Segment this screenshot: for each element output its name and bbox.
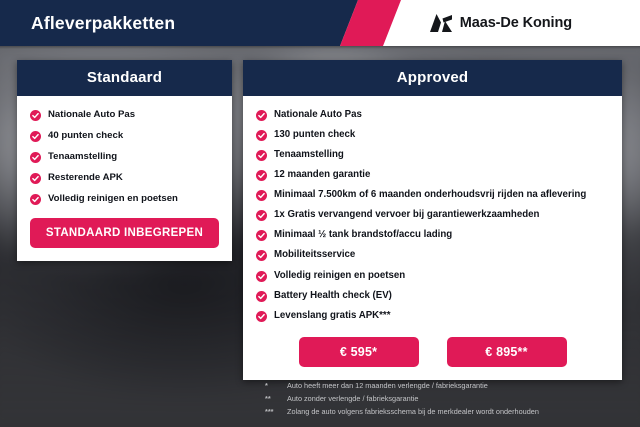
footnote-text: Auto zonder verlengde / fabrieksgarantie [287, 394, 418, 405]
list-item: Tenaamstelling [30, 150, 219, 164]
check-circle-icon [256, 311, 267, 322]
feature-label: 130 punten check [274, 128, 355, 142]
list-item: Volledig reinigen en poetsen [30, 192, 219, 206]
feature-label: Tenaamstelling [48, 150, 117, 164]
footnote-text: Auto heeft meer dan 12 maanden verlengde… [287, 381, 488, 392]
check-circle-icon [30, 152, 41, 163]
list-item: Minimaal 7.500km of 6 maanden onderhouds… [256, 188, 609, 202]
card-body-approved: Nationale Auto Pas 130 punten check Tena… [243, 96, 622, 380]
check-circle-icon [256, 150, 267, 161]
feature-label: Nationale Auto Pas [48, 108, 135, 122]
check-circle-icon [30, 173, 41, 184]
feature-label: Volledig reinigen en poetsen [274, 269, 405, 283]
list-item: Mobiliteitsservice [256, 248, 609, 262]
list-item: Resterende APK [30, 171, 219, 185]
check-circle-icon [256, 291, 267, 302]
feature-list-standaard: Nationale Auto Pas 40 punten check Tenaa… [30, 108, 219, 206]
feature-label: Mobiliteitsservice [274, 248, 355, 262]
list-item: Minimaal ½ tank brandstof/accu lading [256, 228, 609, 242]
feature-label: 1x Gratis vervangend vervoer bij garanti… [274, 208, 539, 222]
footnote-row: *** Zolang de auto volgens fabrieksschem… [265, 407, 637, 418]
header-shadow [0, 46, 640, 49]
feature-label: Volledig reinigen en poetsen [48, 192, 178, 206]
price-button-895[interactable]: € 895** [447, 337, 567, 367]
feature-label: Levenslang gratis APK*** [274, 309, 390, 323]
brand-lockup: Maas-De Koning [430, 0, 572, 46]
list-item: Volledig reinigen en poetsen [256, 269, 609, 283]
check-circle-icon [256, 250, 267, 261]
check-circle-icon [30, 110, 41, 121]
feature-label: 12 maanden garantie [274, 168, 370, 182]
card-title-standaard: Standaard [17, 60, 232, 96]
list-item: Tenaamstelling [256, 148, 609, 162]
check-circle-icon [256, 271, 267, 282]
check-circle-icon [256, 230, 267, 241]
price-button-595[interactable]: € 595* [299, 337, 419, 367]
standaard-inbegrepen-button[interactable]: STANDAARD INBEGREPEN [30, 218, 219, 248]
check-circle-icon [256, 210, 267, 221]
page-header: Afleverpakketten Maas-De Koning [0, 0, 640, 46]
card-title-approved: Approved [243, 60, 622, 96]
list-item: Nationale Auto Pas [256, 108, 609, 122]
footnote-row: ** Auto zonder verlengde / fabrieksgaran… [265, 394, 637, 405]
footnote-marker: ** [265, 394, 287, 405]
list-item: 40 punten check [30, 129, 219, 143]
brand-name: Maas-De Koning [460, 15, 572, 31]
check-circle-icon [30, 194, 41, 205]
footnote-marker: *** [265, 407, 287, 418]
package-card-approved: Approved Nationale Auto Pas 130 punten c… [243, 60, 622, 380]
price-button-row: € 595* € 895** [256, 337, 609, 367]
maas-de-koning-m-logo-icon [430, 14, 452, 32]
feature-label: Battery Health check (EV) [274, 289, 392, 303]
footnotes: * Auto heeft meer dan 12 maanden verleng… [265, 381, 637, 420]
check-circle-icon [256, 130, 267, 141]
list-item: 130 punten check [256, 128, 609, 142]
footnote-row: * Auto heeft meer dan 12 maanden verleng… [265, 381, 637, 392]
feature-label: Minimaal 7.500km of 6 maanden onderhouds… [274, 188, 586, 202]
page-title: Afleverpakketten [31, 0, 175, 46]
list-item: Battery Health check (EV) [256, 289, 609, 303]
feature-list-approved: Nationale Auto Pas 130 punten check Tena… [256, 108, 609, 323]
list-item: Levenslang gratis APK*** [256, 309, 609, 323]
check-circle-icon [256, 190, 267, 201]
footnote-marker: * [265, 381, 287, 392]
feature-label: Resterende APK [48, 171, 123, 185]
card-body-standaard: Nationale Auto Pas 40 punten check Tenaa… [17, 96, 232, 261]
feature-label: Tenaamstelling [274, 148, 344, 162]
list-item: Nationale Auto Pas [30, 108, 219, 122]
check-circle-icon [30, 131, 41, 142]
check-circle-icon [256, 170, 267, 181]
list-item: 12 maanden garantie [256, 168, 609, 182]
feature-label: Minimaal ½ tank brandstof/accu lading [274, 228, 452, 242]
check-circle-icon [256, 110, 267, 121]
package-card-standaard: Standaard Nationale Auto Pas 40 punten c… [17, 60, 232, 261]
feature-label: Nationale Auto Pas [274, 108, 362, 122]
list-item: 1x Gratis vervangend vervoer bij garanti… [256, 208, 609, 222]
footnote-text: Zolang de auto volgens fabrieksschema bi… [287, 407, 539, 418]
feature-label: 40 punten check [48, 129, 123, 143]
